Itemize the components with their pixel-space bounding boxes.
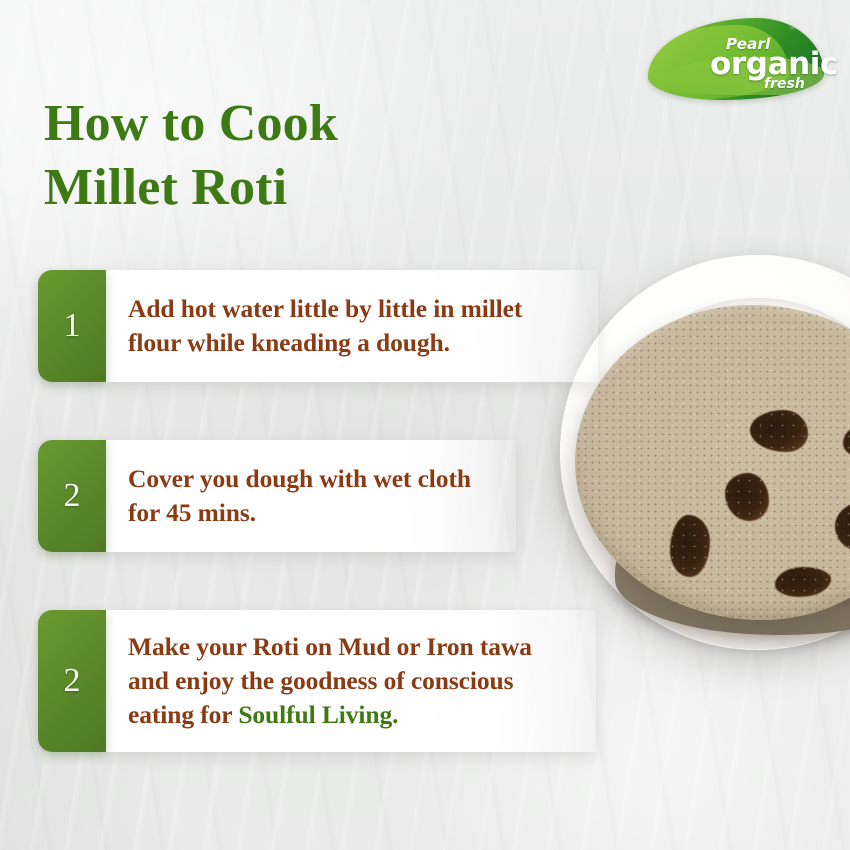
char-spot xyxy=(725,473,769,521)
page-title-line-2: Millet Roti xyxy=(44,156,338,220)
step-card-3: 2 Make your Roti on Mud or Iron tawa and… xyxy=(38,610,596,752)
step-text-highlight: Soulful Living. xyxy=(238,700,398,729)
logo-text-fresh: fresh xyxy=(764,76,805,92)
char-spot xyxy=(843,423,850,459)
step-text-2: Cover you dough with wet cloth for 45 mi… xyxy=(128,462,498,530)
step-number-badge-3: 2 xyxy=(38,610,106,752)
step-card-2: 2 Cover you dough with wet cloth for 45 … xyxy=(38,440,516,552)
step-text-3: Make your Roti on Mud or Iron tawa and e… xyxy=(128,630,578,732)
page-title: How to Cook Millet Roti xyxy=(44,92,338,221)
char-spot xyxy=(750,410,808,452)
step-text-card-2: Cover you dough with wet cloth for 45 mi… xyxy=(106,440,516,552)
step-number-badge-1: 1 xyxy=(38,270,106,382)
char-spot xyxy=(775,567,831,597)
step-card-1: 1 Add hot water little by little in mill… xyxy=(38,270,598,382)
logo-wordmark: Pearl organic fresh ™ xyxy=(648,18,824,100)
char-spot xyxy=(670,515,710,577)
poster-canvas: Pearl organic fresh ™ How to Cook Millet… xyxy=(0,0,850,850)
page-title-line-1: How to Cook xyxy=(44,95,338,152)
trademark-symbol: ™ xyxy=(788,26,796,35)
step-text-card-3: Make your Roti on Mud or Iron tawa and e… xyxy=(106,610,596,752)
steps-list: 1 Add hot water little by little in mill… xyxy=(38,270,598,752)
step-text-card-1: Add hot water little by little in millet… xyxy=(106,270,598,382)
pearl-organic-fresh-logo[interactable]: Pearl organic fresh ™ xyxy=(648,18,824,100)
step-number-badge-2: 2 xyxy=(38,440,106,552)
step-text-1: Add hot water little by little in millet… xyxy=(128,292,580,360)
char-spot xyxy=(835,501,850,551)
